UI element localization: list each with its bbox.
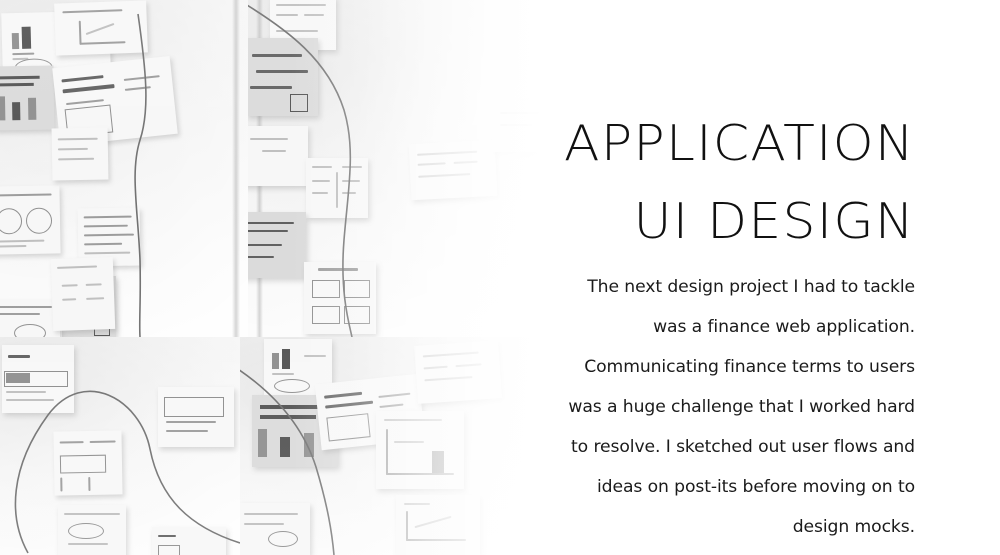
sticky-note — [396, 495, 480, 555]
whiteboard-photo-collage — [0, 0, 560, 555]
sticky-note — [0, 185, 61, 254]
slide-root: APPLICATION UI DESIGN The next design pr… — [0, 0, 1000, 555]
sticky-note — [240, 503, 310, 555]
sticky-note — [376, 411, 464, 489]
sticky-note — [152, 527, 226, 555]
sticky-note — [248, 126, 308, 186]
sticky-note — [306, 158, 368, 218]
sticky-note — [2, 345, 74, 413]
sticky-note — [414, 340, 502, 404]
page-title: APPLICATION UI DESIGN — [523, 105, 915, 261]
sticky-note — [52, 128, 109, 181]
photo-tile-bottom-left — [0, 337, 240, 555]
sticky-note — [0, 300, 60, 337]
sticky-note — [158, 387, 234, 447]
sticky-note — [53, 430, 122, 495]
sticky-note — [51, 257, 115, 331]
sticky-note — [304, 262, 376, 334]
sticky-note — [409, 140, 498, 200]
sticky-note — [58, 505, 126, 555]
sticky-note — [0, 65, 55, 130]
sticky-note — [248, 212, 306, 278]
body-paragraph: The next design project I had to tackle … — [553, 267, 915, 547]
sticky-note — [248, 38, 318, 116]
photo-tile-top-left — [0, 0, 248, 337]
photo-tile-bottom-right — [240, 337, 560, 555]
photo-stage — [0, 0, 560, 555]
photo-tile-top-right — [248, 0, 560, 337]
sticky-note — [54, 0, 148, 55]
text-panel: APPLICATION UI DESIGN The next design pr… — [520, 0, 1000, 555]
board-edge — [232, 0, 240, 337]
